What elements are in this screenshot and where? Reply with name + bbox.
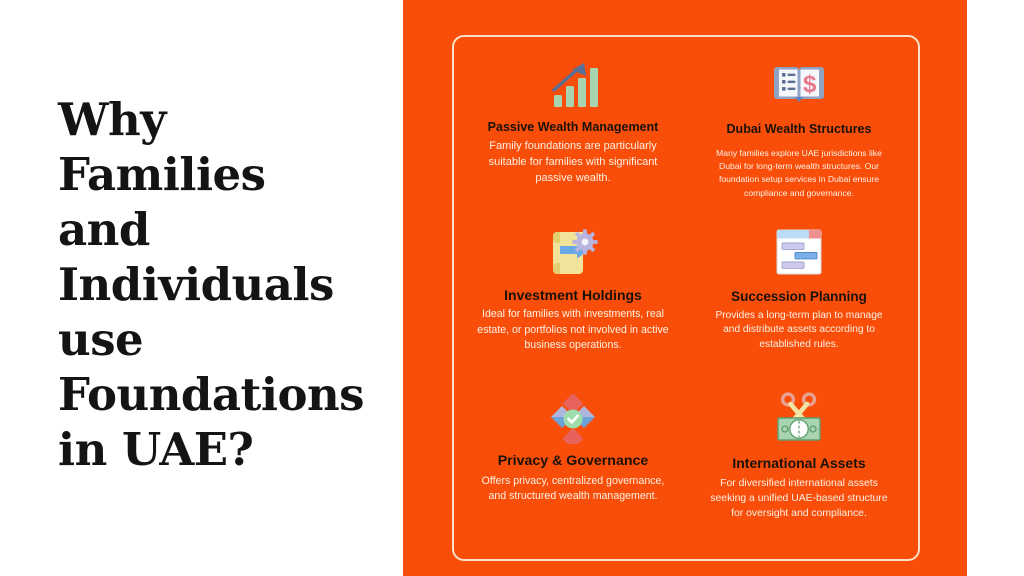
card-description: Provides a long-term plan to manage and … bbox=[707, 309, 892, 353]
card-description: Many families explore UAE jurisdictions … bbox=[704, 147, 894, 200]
feature-card-grid: Passive Wealth Management Family foundat… bbox=[463, 48, 909, 548]
card-title: Passive Wealth Management bbox=[488, 120, 659, 135]
card-description: Family foundations are particularly suit… bbox=[475, 139, 671, 187]
card-international-assets[interactable]: International Assets For diversified int… bbox=[689, 381, 909, 548]
gantt-chart-icon bbox=[770, 223, 828, 281]
orange-panel: Passive Wealth Management Family foundat… bbox=[403, 0, 967, 576]
card-title: Investment Holdings bbox=[504, 287, 642, 304]
card-description: Offers privacy, centralized governance, … bbox=[475, 474, 671, 505]
scroll-arrow-gear-icon bbox=[544, 223, 602, 281]
card-title: Succession Planning bbox=[731, 289, 867, 305]
diamond-shield-check-icon bbox=[544, 389, 602, 447]
scissors-banknote-icon bbox=[770, 389, 828, 447]
card-succession-planning[interactable]: Succession Planning Provides a long-term… bbox=[689, 215, 909, 382]
page-title: Why Families and Individuals use Foundat… bbox=[58, 92, 398, 477]
card-dubai-wealth-structures[interactable]: $ Dubai Wealth Structures Many families … bbox=[689, 48, 909, 215]
card-title: Privacy & Governance bbox=[498, 453, 649, 470]
card-description: Ideal for families with investments, rea… bbox=[475, 307, 671, 353]
card-description: For diversified international assets see… bbox=[704, 476, 894, 521]
open-book-dollar-icon: $ bbox=[770, 56, 828, 114]
card-title: Dubai Wealth Structures bbox=[727, 122, 872, 137]
bar-chart-growth-icon bbox=[544, 56, 602, 114]
svg-text:$: $ bbox=[803, 71, 817, 98]
card-privacy-governance[interactable]: Privacy & Governance Offers privacy, cen… bbox=[463, 381, 683, 548]
card-passive-wealth-management[interactable]: Passive Wealth Management Family foundat… bbox=[463, 48, 683, 215]
card-investment-holdings[interactable]: Investment Holdings Ideal for families w… bbox=[463, 215, 683, 382]
title-block: Why Families and Individuals use Foundat… bbox=[58, 92, 398, 477]
slide-canvas: Why Families and Individuals use Foundat… bbox=[0, 0, 1024, 576]
card-title: International Assets bbox=[732, 455, 865, 472]
